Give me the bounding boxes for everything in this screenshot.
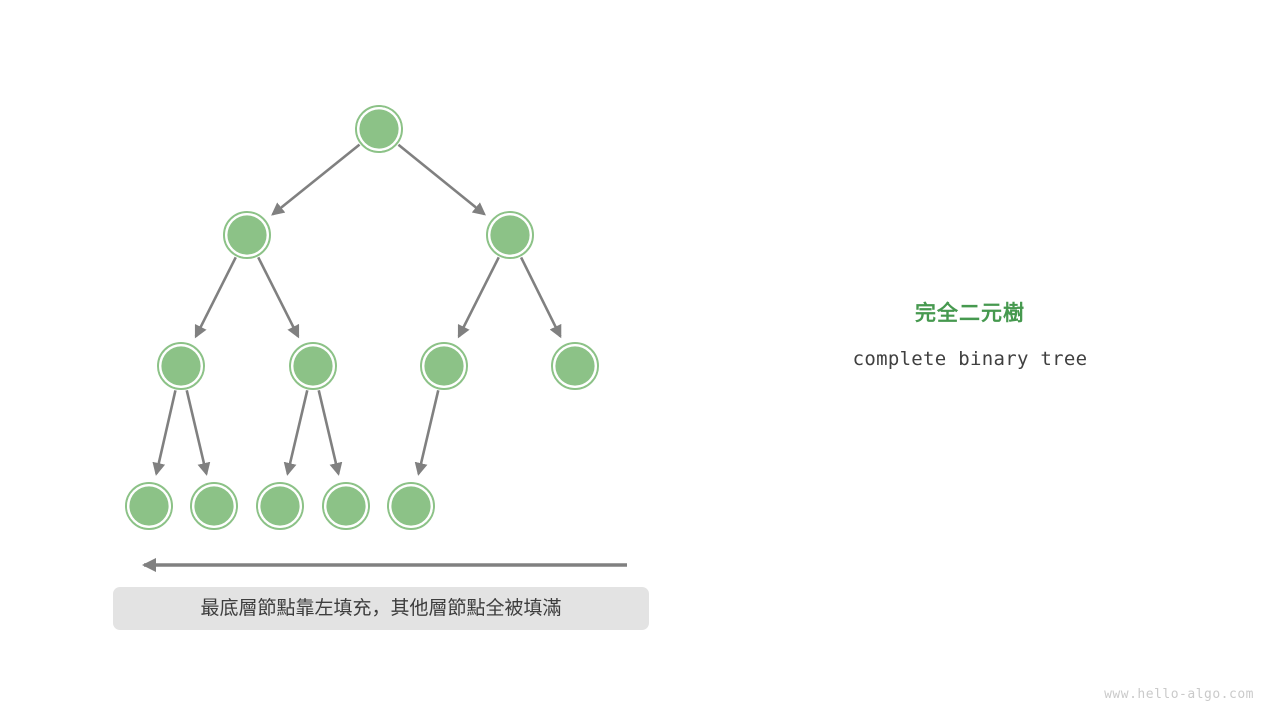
tree-edge	[288, 390, 308, 474]
tree-node	[323, 483, 369, 529]
tree-node	[388, 483, 434, 529]
tree-node	[552, 343, 598, 389]
title-english: complete binary tree	[760, 345, 1180, 373]
tree-node	[257, 483, 303, 529]
tree-node-fill	[490, 215, 529, 254]
tree-node-fill	[161, 346, 200, 385]
tree-node-fill	[227, 215, 266, 254]
tree-edge	[419, 390, 439, 474]
tree-node-fill	[260, 486, 299, 525]
tree-node	[191, 483, 237, 529]
tree-node-fill	[326, 486, 365, 525]
tree-edge	[319, 390, 339, 474]
caption-text: 最底層節點靠左填充，其他層節點全被填滿	[113, 587, 649, 630]
tree-node-fill	[555, 346, 594, 385]
tree-node	[487, 212, 533, 258]
tree-node	[356, 106, 402, 152]
tree-edges	[156, 145, 560, 474]
tree-edge	[196, 257, 236, 336]
tree-edge	[459, 257, 499, 336]
title-chinese: 完全二元樹	[760, 300, 1180, 328]
tree-node	[421, 343, 467, 389]
tree-node-fill	[293, 346, 332, 385]
tree-edge	[273, 145, 360, 215]
tree-edge	[156, 390, 175, 473]
tree-node-fill	[391, 486, 430, 525]
tree-node-fill	[424, 346, 463, 385]
tree-node	[290, 343, 336, 389]
tree-edge	[398, 145, 484, 215]
tree-node	[158, 343, 204, 389]
tree-edge	[187, 390, 207, 474]
tree-edge	[258, 257, 298, 336]
tree-node	[224, 212, 270, 258]
tree-edge	[521, 257, 560, 336]
watermark: www.hello-algo.com	[1104, 687, 1254, 702]
caption-box: 最底層節點靠左填充，其他層節點全被填滿	[113, 587, 649, 630]
tree-node	[126, 483, 172, 529]
tree-node-fill	[129, 486, 168, 525]
tree-nodes	[126, 106, 598, 529]
tree-node-fill	[194, 486, 233, 525]
tree-node-fill	[359, 109, 398, 148]
